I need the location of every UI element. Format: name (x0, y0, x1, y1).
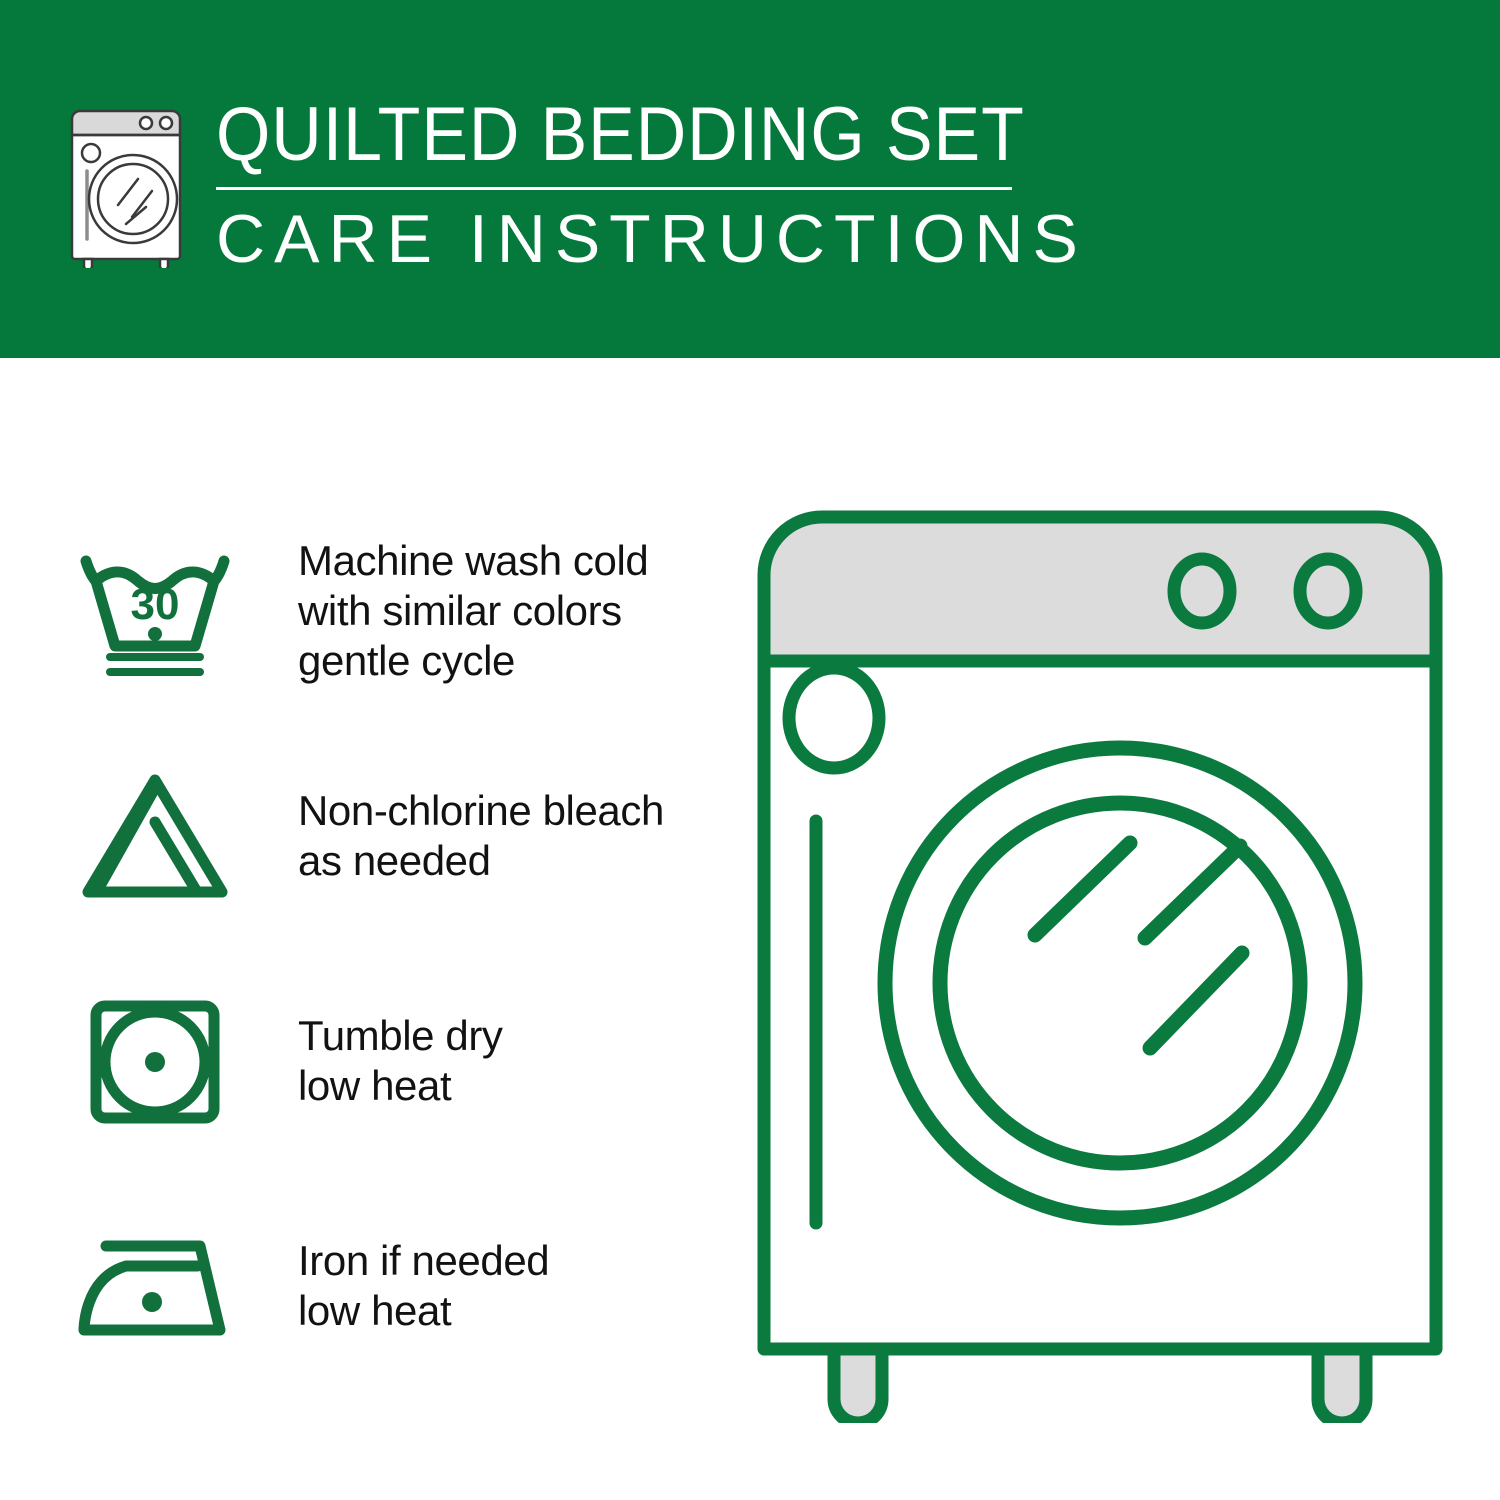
care-item-label: Iron if needed low heat (298, 1236, 549, 1336)
care-item-label: Machine wash cold with similar colors ge… (298, 536, 648, 686)
header-title-block: QUILTED BEDDING SET CARE INSTRUCTIONS (216, 95, 1095, 276)
care-item-tumble-dry: Tumble dry low heat (70, 948, 710, 1173)
title-divider (216, 187, 1012, 190)
front-load-washing-machine-illustration (750, 503, 1450, 1423)
care-item-iron: Iron if needed low heat (70, 1173, 710, 1398)
care-item-label: Tumble dry low heat (298, 1011, 503, 1111)
wash-temperature-value: 30 (131, 580, 180, 629)
machine-leg-right (1318, 1349, 1366, 1423)
wash-tub-30-gentle-icon: 30 (70, 541, 240, 681)
page-subtitle: CARE INSTRUCTIONS (216, 202, 1095, 276)
header-content: QUILTED BEDDING SET CARE INSTRUCTIONS (62, 95, 1095, 276)
washing-machine-icon (62, 103, 190, 268)
care-item-label: Non-chlorine bleach as needed (298, 786, 664, 886)
main-content: 30 Machine wash cold with similar colors… (0, 358, 1500, 1500)
tumble-dry-low-icon (70, 991, 240, 1131)
control-knob-2 (1300, 559, 1356, 623)
control-knob-1 (1174, 559, 1230, 623)
care-item-bleach: Non-chlorine bleach as needed (70, 723, 710, 948)
page-title: QUILTED BEDDING SET (216, 95, 1025, 175)
header-band: QUILTED BEDDING SET CARE INSTRUCTIONS (0, 0, 1500, 358)
machine-leg-left (834, 1349, 882, 1423)
non-chlorine-bleach-triangle-icon (70, 766, 240, 906)
iron-low-heat-icon (70, 1216, 240, 1356)
care-instruction-list: 30 Machine wash cold with similar colors… (70, 498, 710, 1398)
care-item-machine-wash: 30 Machine wash cold with similar colors… (70, 498, 710, 723)
dispenser-circle (789, 668, 879, 768)
